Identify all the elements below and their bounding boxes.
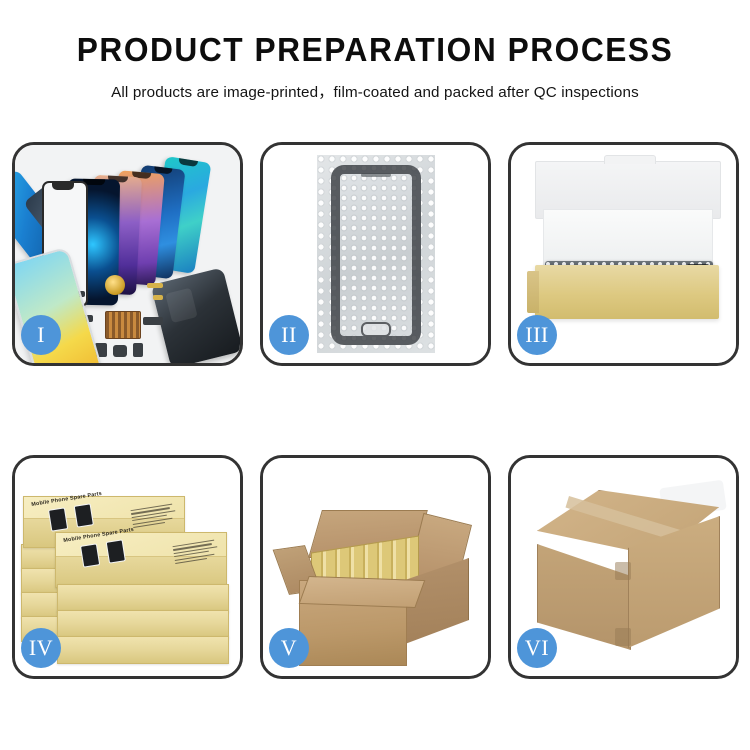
retail-box-stacked-f (57, 610, 229, 638)
step-badge-4: IV (21, 628, 61, 668)
chip-array-icon (105, 311, 141, 339)
step-badge-2: II (269, 315, 309, 355)
process-step-panel-2[interactable]: II (260, 142, 491, 366)
bubble-wrap-sheet-icon (317, 155, 435, 353)
wrapped-screen-icon (331, 165, 421, 345)
product-shot-icon (74, 503, 94, 527)
carton-handle-notch-upper-icon (615, 562, 631, 580)
page-header: PRODUCT PREPARATION PROCESS All products… (0, 0, 750, 102)
page-title: PRODUCT PREPARATION PROCESS (15, 33, 735, 68)
process-step-panel-3[interactable]: III (508, 142, 739, 366)
retail-box-stacked-g (57, 636, 229, 664)
process-step-panel-1[interactable]: I (12, 142, 243, 366)
process-step-grid: I II III (12, 142, 740, 679)
step-badge-3: III (517, 315, 557, 355)
carton-flap-front-icon (299, 576, 426, 608)
phone-lineup (15, 145, 240, 265)
step-badge-1: I (21, 315, 61, 355)
speaker-icon (113, 345, 127, 357)
home-button-icon (361, 322, 391, 337)
flex-cable-icon (147, 283, 163, 288)
copper-coil-icon (105, 275, 125, 295)
camera-module-icon (133, 343, 143, 357)
step-badge-6: VI (517, 628, 557, 668)
process-step-panel-4[interactable]: Mobile Phone Spare Parts (12, 455, 243, 679)
product-shot-icon (48, 507, 68, 531)
antenna-icon (143, 317, 163, 325)
step-badge-5: V (269, 628, 309, 668)
process-step-panel-5[interactable]: V (260, 455, 491, 679)
earpiece-slot-icon (361, 173, 391, 177)
flex-cable-small-icon (153, 295, 163, 300)
product-shot-icon (80, 543, 100, 567)
product-shot-icon (106, 539, 126, 563)
process-step-panel-6[interactable]: VI (508, 455, 739, 679)
retail-box-second: Mobile Phone Spare Parts (55, 532, 227, 588)
carton-handle-notch-lower-icon (615, 628, 631, 646)
retail-box-stacked-e (57, 584, 229, 612)
mailer-tray-icon (535, 265, 719, 319)
page-subtitle: All products are image-printed，film-coat… (0, 80, 750, 102)
